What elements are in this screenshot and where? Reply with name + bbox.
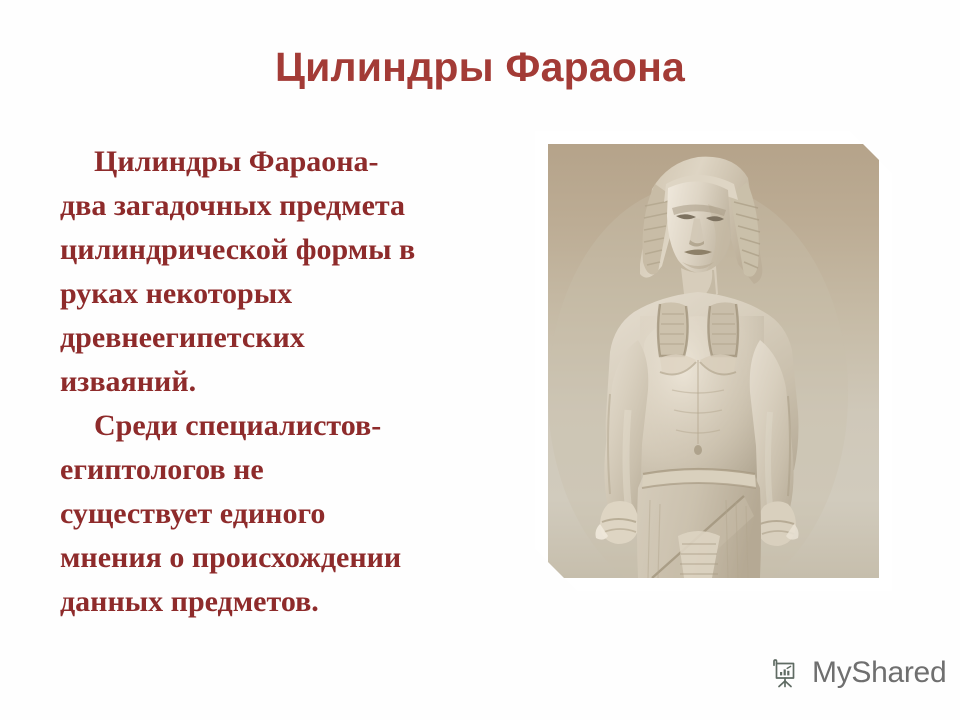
- statue-picture-frame: [535, 131, 892, 591]
- statue-photo: [548, 144, 879, 578]
- myshared-watermark: MyShared: [771, 652, 946, 694]
- slide-body-text: Цилиндры Фараона- два загадочных предмет…: [60, 140, 515, 624]
- watermark-label: MyShared: [812, 657, 946, 689]
- presentation-slide: Цилиндры Фараона Цилиндры Фараона- два з…: [0, 0, 960, 720]
- statue-illustration: [548, 144, 879, 578]
- presentation-board-icon: [771, 657, 803, 689]
- body-paragraph-1: Цилиндры Фараона- два загадочных предмет…: [60, 140, 515, 404]
- body-paragraph-2: Среди специалистов- египтологов не сущес…: [60, 404, 515, 624]
- page-title: Цилиндры Фараона: [0, 42, 960, 92]
